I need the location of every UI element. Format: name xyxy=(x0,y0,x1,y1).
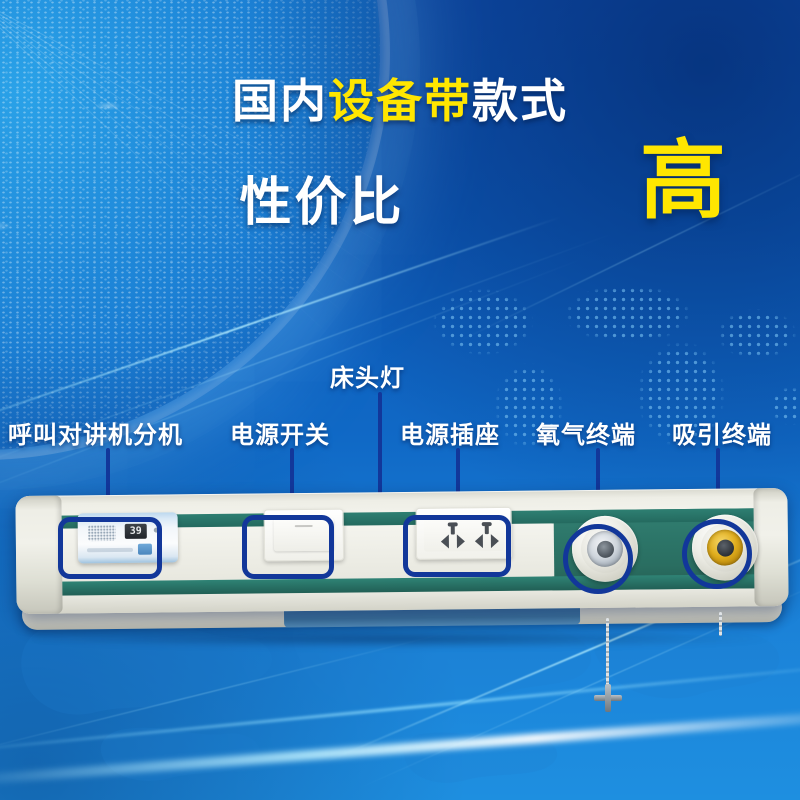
panel-end-cap-right xyxy=(753,488,788,606)
callout-oxygen-terminal: 氧气终端 xyxy=(536,415,636,450)
callout-power-socket: 电源插座 xyxy=(400,415,500,450)
highlight-power-switch xyxy=(242,515,334,579)
highlight-power-socket xyxy=(403,515,511,577)
headline-emphasis-word: 高 xyxy=(640,138,726,224)
headline-part-2: 设备带 xyxy=(328,75,472,127)
callout-power-switch: 电源开关 xyxy=(230,415,330,450)
callout-suction-terminal: 吸引终端 xyxy=(672,415,772,450)
pull-chain[interactable] xyxy=(606,618,609,690)
headline-line-1: 国内设备带款式 xyxy=(0,78,800,124)
callout-intercom: 呼叫对讲机分机 xyxy=(8,415,183,450)
highlight-suction-terminal xyxy=(682,519,752,589)
headline-part-3: 款式 xyxy=(472,75,568,127)
pull-chain-secondary[interactable] xyxy=(719,612,722,636)
highlight-intercom xyxy=(58,517,162,579)
headline-subtitle: 性价比 xyxy=(239,160,404,235)
highlight-oxygen-terminal xyxy=(563,524,633,594)
headline-block: 国内设备带款式 性价比 xyxy=(0,78,800,124)
panel-end-cap-left xyxy=(15,496,62,614)
pull-chain-pendant[interactable] xyxy=(594,684,622,712)
callout-bed-lamp: 床头灯 xyxy=(330,358,405,393)
pendant-vertical-bar xyxy=(605,684,611,712)
promo-banner: 国内设备带款式 性价比 高 呼叫对讲机分机 床头灯 电源开关 电源插座 氧气终端… xyxy=(0,0,800,800)
headline-part-1: 国内 xyxy=(232,75,328,127)
